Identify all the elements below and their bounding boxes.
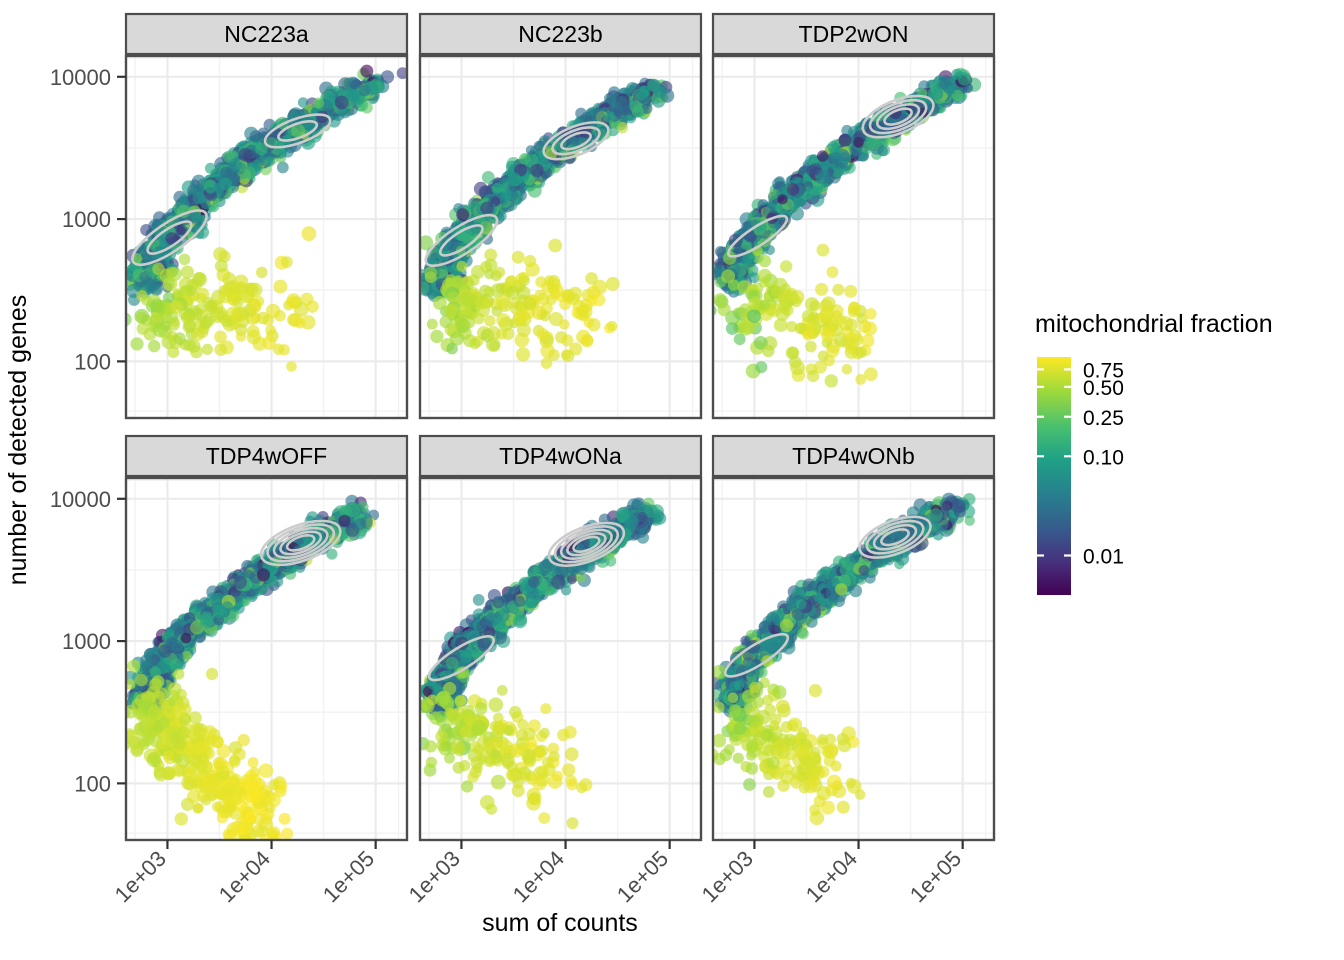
x-axis-title: sum of counts	[482, 909, 638, 937]
facet-panel-tdp4wona	[410, 478, 701, 840]
legend-tick-label: 0.50	[1083, 377, 1124, 400]
figure-svg: NC223aNC223bTDP2wONTDP4wOFFTDP4wONaTDP4w…	[0, 0, 1344, 960]
y-tick-label: 100	[74, 771, 111, 796]
facet-title: NC223a	[224, 21, 309, 47]
x-tick-label: 1e+03	[697, 846, 758, 907]
facet-panel-nc223a	[117, 56, 408, 418]
y-tick-label: 10000	[50, 487, 111, 512]
facet-strip-nc223a: NC223a	[126, 14, 407, 54]
facet-title: NC223b	[518, 21, 602, 47]
x-tick-label: 1e+05	[318, 846, 379, 907]
scatter-plot-figure: NC223aNC223bTDP2wONTDP4wOFFTDP4wONaTDP4w…	[0, 0, 1344, 960]
facet-strip-tdp2won: TDP2wON	[713, 14, 994, 54]
facet-panel-tdp4woff	[116, 478, 407, 848]
x-tick-label: 1e+04	[508, 846, 569, 907]
facet-strip-nc223b: NC223b	[420, 14, 701, 54]
legend-tick-label: 0.25	[1083, 407, 1124, 430]
x-tick-label: 1e+03	[110, 846, 171, 907]
y-tick-label: 1000	[62, 207, 111, 232]
y-tick-label: 100	[74, 349, 111, 374]
x-tick-label: 1e+05	[612, 846, 673, 907]
legend-tick-label: 0.10	[1083, 446, 1124, 469]
facet-panel-nc223b	[415, 56, 701, 418]
x-tick-label: 1e+03	[404, 846, 465, 907]
facet-strip-tdp4wonb: TDP4wONb	[713, 436, 994, 476]
facet-panel-tdp2won	[705, 56, 994, 418]
x-tick-label: 1e+04	[214, 846, 275, 907]
y-tick-label: 10000	[50, 65, 111, 90]
facet-title: TDP4wONb	[792, 443, 915, 469]
x-tick-label: 1e+05	[905, 846, 966, 907]
legend-tick-label: 0.01	[1083, 546, 1124, 569]
facet-panel-tdp4wonb	[705, 478, 994, 840]
facet-title: TDP4wONa	[499, 443, 622, 469]
facet-strip-tdp4wona: TDP4wONa	[420, 436, 701, 476]
y-axis-title: number of detected genes	[4, 295, 32, 585]
legend-title: mitochondrial fraction	[1035, 310, 1273, 338]
facet-title: TDP4wOFF	[206, 443, 327, 469]
facet-title: TDP2wON	[799, 21, 909, 47]
y-tick-label: 1000	[62, 629, 111, 654]
facet-strip-tdp4woff: TDP4wOFF	[126, 436, 407, 476]
x-tick-label: 1e+04	[801, 846, 862, 907]
